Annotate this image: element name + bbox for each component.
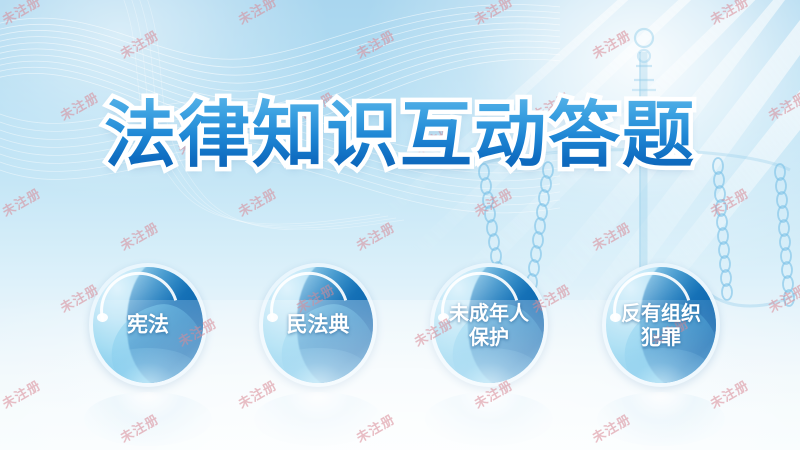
- orb-bottom-rimlight: [613, 348, 710, 383]
- orb-bottom-rimlight: [441, 348, 538, 383]
- orb-bottom-rimlight: [270, 348, 367, 383]
- topic-orb-civil-code[interactable]: 民法典: [259, 263, 377, 387]
- orb-bottom-rimlight: [100, 348, 197, 383]
- topic-orb-label: 未成年人 保护: [430, 301, 548, 349]
- topic-orb-group: 宪法 民法典 未成年人 保护: [0, 0, 800, 450]
- poster-canvas: 法律知识互动答题 法律知识互动答题 宪法: [0, 0, 800, 450]
- topic-orb-constitution[interactable]: 宪法: [89, 263, 207, 387]
- topic-orb-minor-protection[interactable]: 未成年人 保护: [430, 263, 548, 387]
- topic-orb-label: 反有组织 犯罪: [602, 301, 720, 349]
- topic-orb-anti-organized-crime[interactable]: 反有组织 犯罪: [602, 263, 720, 387]
- topic-orb-label: 民法典: [259, 313, 377, 338]
- topic-orb-label: 宪法: [89, 313, 207, 338]
